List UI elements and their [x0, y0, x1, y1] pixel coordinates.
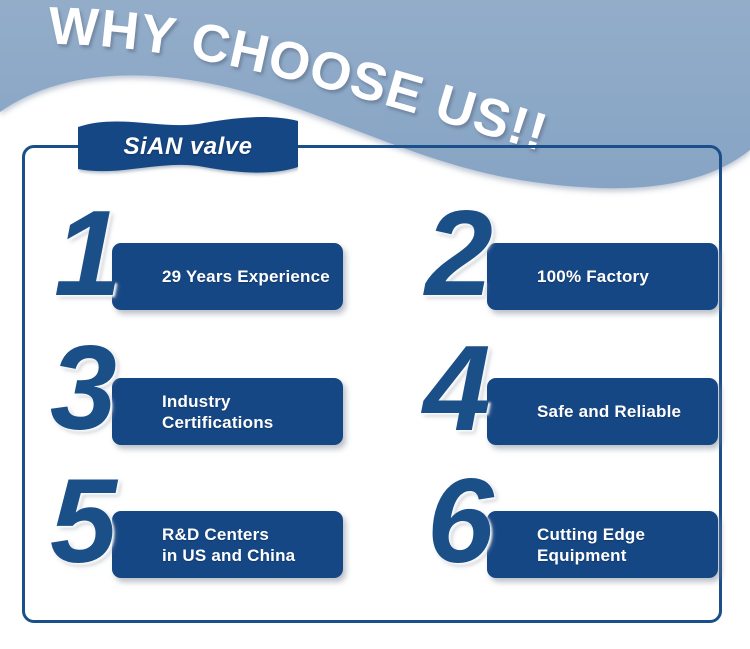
feature-item-1[interactable]: 1 29 Years Experience [50, 198, 350, 318]
feature-number-2: 2 [425, 194, 493, 312]
feature-bar-3[interactable]: Industry Certifications [112, 378, 343, 445]
feature-label-6-line1: Cutting Edge [537, 525, 645, 544]
feature-bar-5[interactable]: R&D Centers in US and China [112, 511, 343, 578]
feature-bar-1[interactable]: 29 Years Experience [112, 243, 343, 310]
brand-ribbon: SiAN valve [78, 117, 298, 179]
feature-bar-4[interactable]: Safe and Reliable [487, 378, 718, 445]
feature-label-2: 100% Factory [487, 266, 649, 287]
feature-number-1: 1 [54, 194, 122, 312]
feature-number-4: 4 [423, 329, 491, 447]
feature-item-5[interactable]: 5 R&D Centers in US and China [50, 466, 350, 586]
feature-label-6: Cutting Edge Equipment [487, 524, 645, 566]
feature-label-1: 29 Years Experience [112, 266, 330, 287]
feature-number-3: 3 [50, 329, 117, 447]
feature-bar-2[interactable]: 100% Factory [487, 243, 718, 310]
feature-item-3[interactable]: 3 Industry Certifications [50, 333, 350, 453]
feature-item-6[interactable]: 6 Cutting Edge Equipment [425, 466, 725, 586]
why-choose-us-infographic: WHY CHOOSE US!! SiAN valve 1 29 Years Ex… [0, 0, 750, 649]
feature-number-6: 6 [427, 462, 494, 580]
feature-item-2[interactable]: 2 100% Factory [425, 198, 725, 318]
feature-item-4[interactable]: 4 Safe and Reliable [425, 333, 725, 453]
feature-number-5: 5 [50, 462, 117, 580]
feature-label-5-line2: in US and China [162, 545, 295, 566]
feature-label-5-line1: R&D Centers [162, 525, 269, 544]
feature-bar-6[interactable]: Cutting Edge Equipment [487, 511, 718, 578]
feature-label-6-line2: Equipment [537, 545, 645, 566]
feature-label-5: R&D Centers in US and China [112, 524, 295, 566]
feature-label-3: Industry Certifications [112, 391, 343, 433]
brand-ribbon-label: SiAN valve [78, 117, 298, 179]
feature-label-4: Safe and Reliable [487, 401, 681, 422]
